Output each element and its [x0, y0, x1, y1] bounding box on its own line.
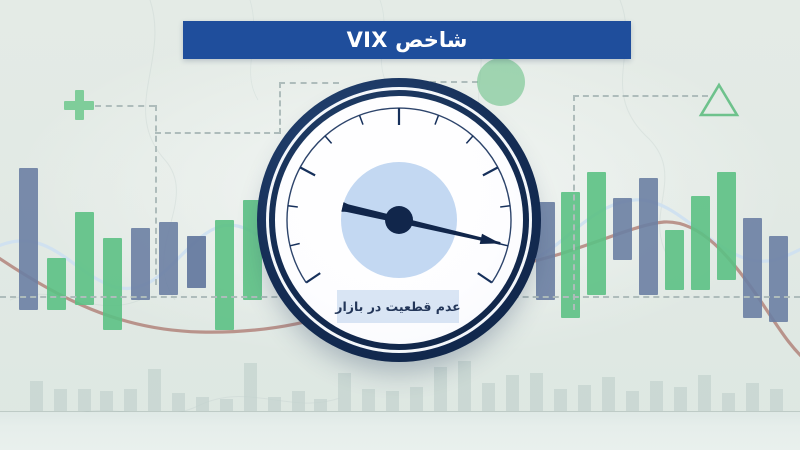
- gauge-tick-minor: [290, 244, 300, 246]
- volume-bar: [100, 391, 113, 411]
- volume-bar: [554, 389, 567, 411]
- volume-bar: [434, 367, 447, 411]
- volume-bar: [362, 389, 375, 411]
- dashed-connector-1: [95, 105, 155, 107]
- volume-bar: [458, 361, 471, 411]
- volume-bar: [78, 389, 91, 411]
- gauge-tick-minor: [500, 206, 510, 207]
- gauge-tick-major: [300, 167, 315, 175]
- volume-bar: [172, 393, 185, 411]
- volume-bar: [124, 389, 137, 411]
- volume-bar: [410, 387, 423, 411]
- triangle-icon: [698, 82, 740, 118]
- volume-bar: [698, 375, 711, 411]
- volume-bar: [506, 375, 519, 411]
- volume-bar: [746, 383, 759, 411]
- volume-bar: [292, 391, 305, 411]
- volume-bar: [530, 373, 543, 411]
- gauge-tick-major: [483, 167, 498, 175]
- gauge-dial-arc: [287, 108, 511, 283]
- gauge-tick-minor: [288, 206, 298, 207]
- volume-bar: [650, 381, 663, 411]
- volume-bar: [386, 391, 399, 411]
- gauge-caption-text: عدم قطعیت در بازار: [335, 299, 460, 314]
- gauge-caption: عدم قطعیت در بازار: [337, 290, 459, 323]
- volume-bar: [244, 363, 257, 411]
- gauge-tick-minor: [435, 115, 439, 124]
- plus-icon: [64, 90, 94, 120]
- volume-bar: [30, 381, 43, 411]
- page-title-banner: شاخص VIX: [183, 21, 631, 59]
- volume-bar: [674, 387, 687, 411]
- screenshot-canvas: شاخص VIX عدم قطعیت در بازار: [0, 0, 800, 450]
- gauge-tick-minor: [360, 115, 364, 124]
- gauge-tick-minor: [325, 136, 332, 144]
- volume-bar: [338, 373, 351, 411]
- volume-bar: [578, 385, 591, 411]
- volume-bar: [268, 397, 281, 411]
- volume-bar: [770, 389, 783, 411]
- dashed-connector-8: [573, 95, 575, 310]
- gauge-tick-major: [306, 273, 320, 283]
- volume-bar: [220, 399, 233, 411]
- page-title: شاخص VIX: [347, 28, 468, 52]
- volume-bar: [482, 383, 495, 411]
- gauge-tick-marks: [288, 108, 510, 283]
- gauge-needle-hub: [385, 206, 413, 234]
- gauge-tick-minor: [466, 136, 473, 144]
- gauge-tick-major: [478, 273, 492, 283]
- volume-bar: [602, 377, 615, 411]
- volume-bar: [148, 369, 161, 411]
- volume-bar: [722, 393, 735, 411]
- volume-bar: [626, 391, 639, 411]
- volume-bar: [314, 399, 327, 411]
- dashed-connector-7: [573, 95, 708, 97]
- volume-bar: [196, 397, 209, 411]
- gauge-needle: [341, 202, 500, 245]
- volume-bar: [54, 389, 67, 411]
